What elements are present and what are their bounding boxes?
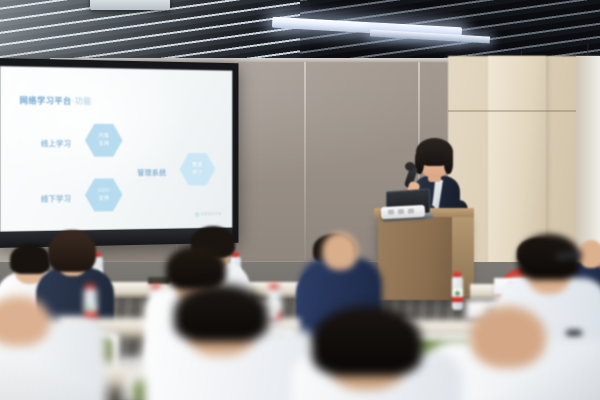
slide-title: 网络学习平台·功能	[20, 94, 92, 107]
slide-title-sub: 功能	[75, 96, 92, 106]
slide-footer-logo: 在线培训平台	[194, 212, 221, 217]
projection-screen: 网络学习平台·功能 线上学习 线下学习 管理系统 内容 支持 O2O 支持 数据…	[0, 58, 238, 248]
slide-label-management-system: 管理系统	[137, 167, 166, 178]
bottle-label	[84, 302, 97, 319]
attendee-head	[322, 232, 358, 270]
presenter-hair-side	[444, 150, 453, 174]
hexagon-line-1: 数据	[192, 161, 202, 169]
outlet-icon	[408, 208, 414, 213]
wall-panel-seam	[304, 62, 306, 262]
microphone-head-icon	[405, 162, 415, 171]
power-strip	[381, 205, 426, 219]
attendee-head	[470, 306, 546, 368]
outlet-icon	[398, 209, 404, 214]
bottle-cap	[85, 284, 95, 289]
ceiling-projector	[90, 0, 170, 10]
bottle-label-band	[452, 297, 463, 302]
conference-room-photo: 网络学习平台·功能 线上学习 线下学习 管理系统 内容 支持 O2O 支持 数据…	[0, 0, 600, 400]
hexagon-line-2: 统计	[192, 169, 202, 177]
attendee-hair	[312, 306, 422, 376]
slide-label-online-learning: 线上学习	[41, 138, 71, 149]
hexagon-line-1: O2O	[98, 187, 109, 195]
hexagon-line-2: 支持	[99, 195, 110, 203]
logo-mark-icon	[194, 212, 198, 217]
bottle-logo-icon	[455, 291, 460, 296]
slide-label-offline-learning: 线下学习	[41, 193, 71, 204]
attendee-hair	[10, 244, 50, 274]
bottle-cap	[151, 284, 161, 289]
outlet-icon	[388, 209, 394, 214]
bottle-cap	[269, 284, 279, 289]
slide-logo-text: 在线培训平台	[201, 212, 222, 217]
hexagon-line-2: 支持	[99, 140, 110, 148]
wristwatch-icon	[566, 330, 582, 337]
bottle-cap	[453, 272, 461, 277]
bottle-label	[452, 288, 463, 302]
projection-screen-surface: 网络学习平台·功能 线上学习 线下学习 管理系统 内容 支持 O2O 支持 数据…	[0, 66, 232, 232]
attendee-hair	[48, 230, 96, 272]
bottle-logo-icon	[87, 305, 92, 310]
slide-title-main: 网络学习平台	[20, 95, 72, 106]
attendee-hair	[174, 284, 268, 342]
hexagon-line-1: 内容	[99, 132, 110, 140]
